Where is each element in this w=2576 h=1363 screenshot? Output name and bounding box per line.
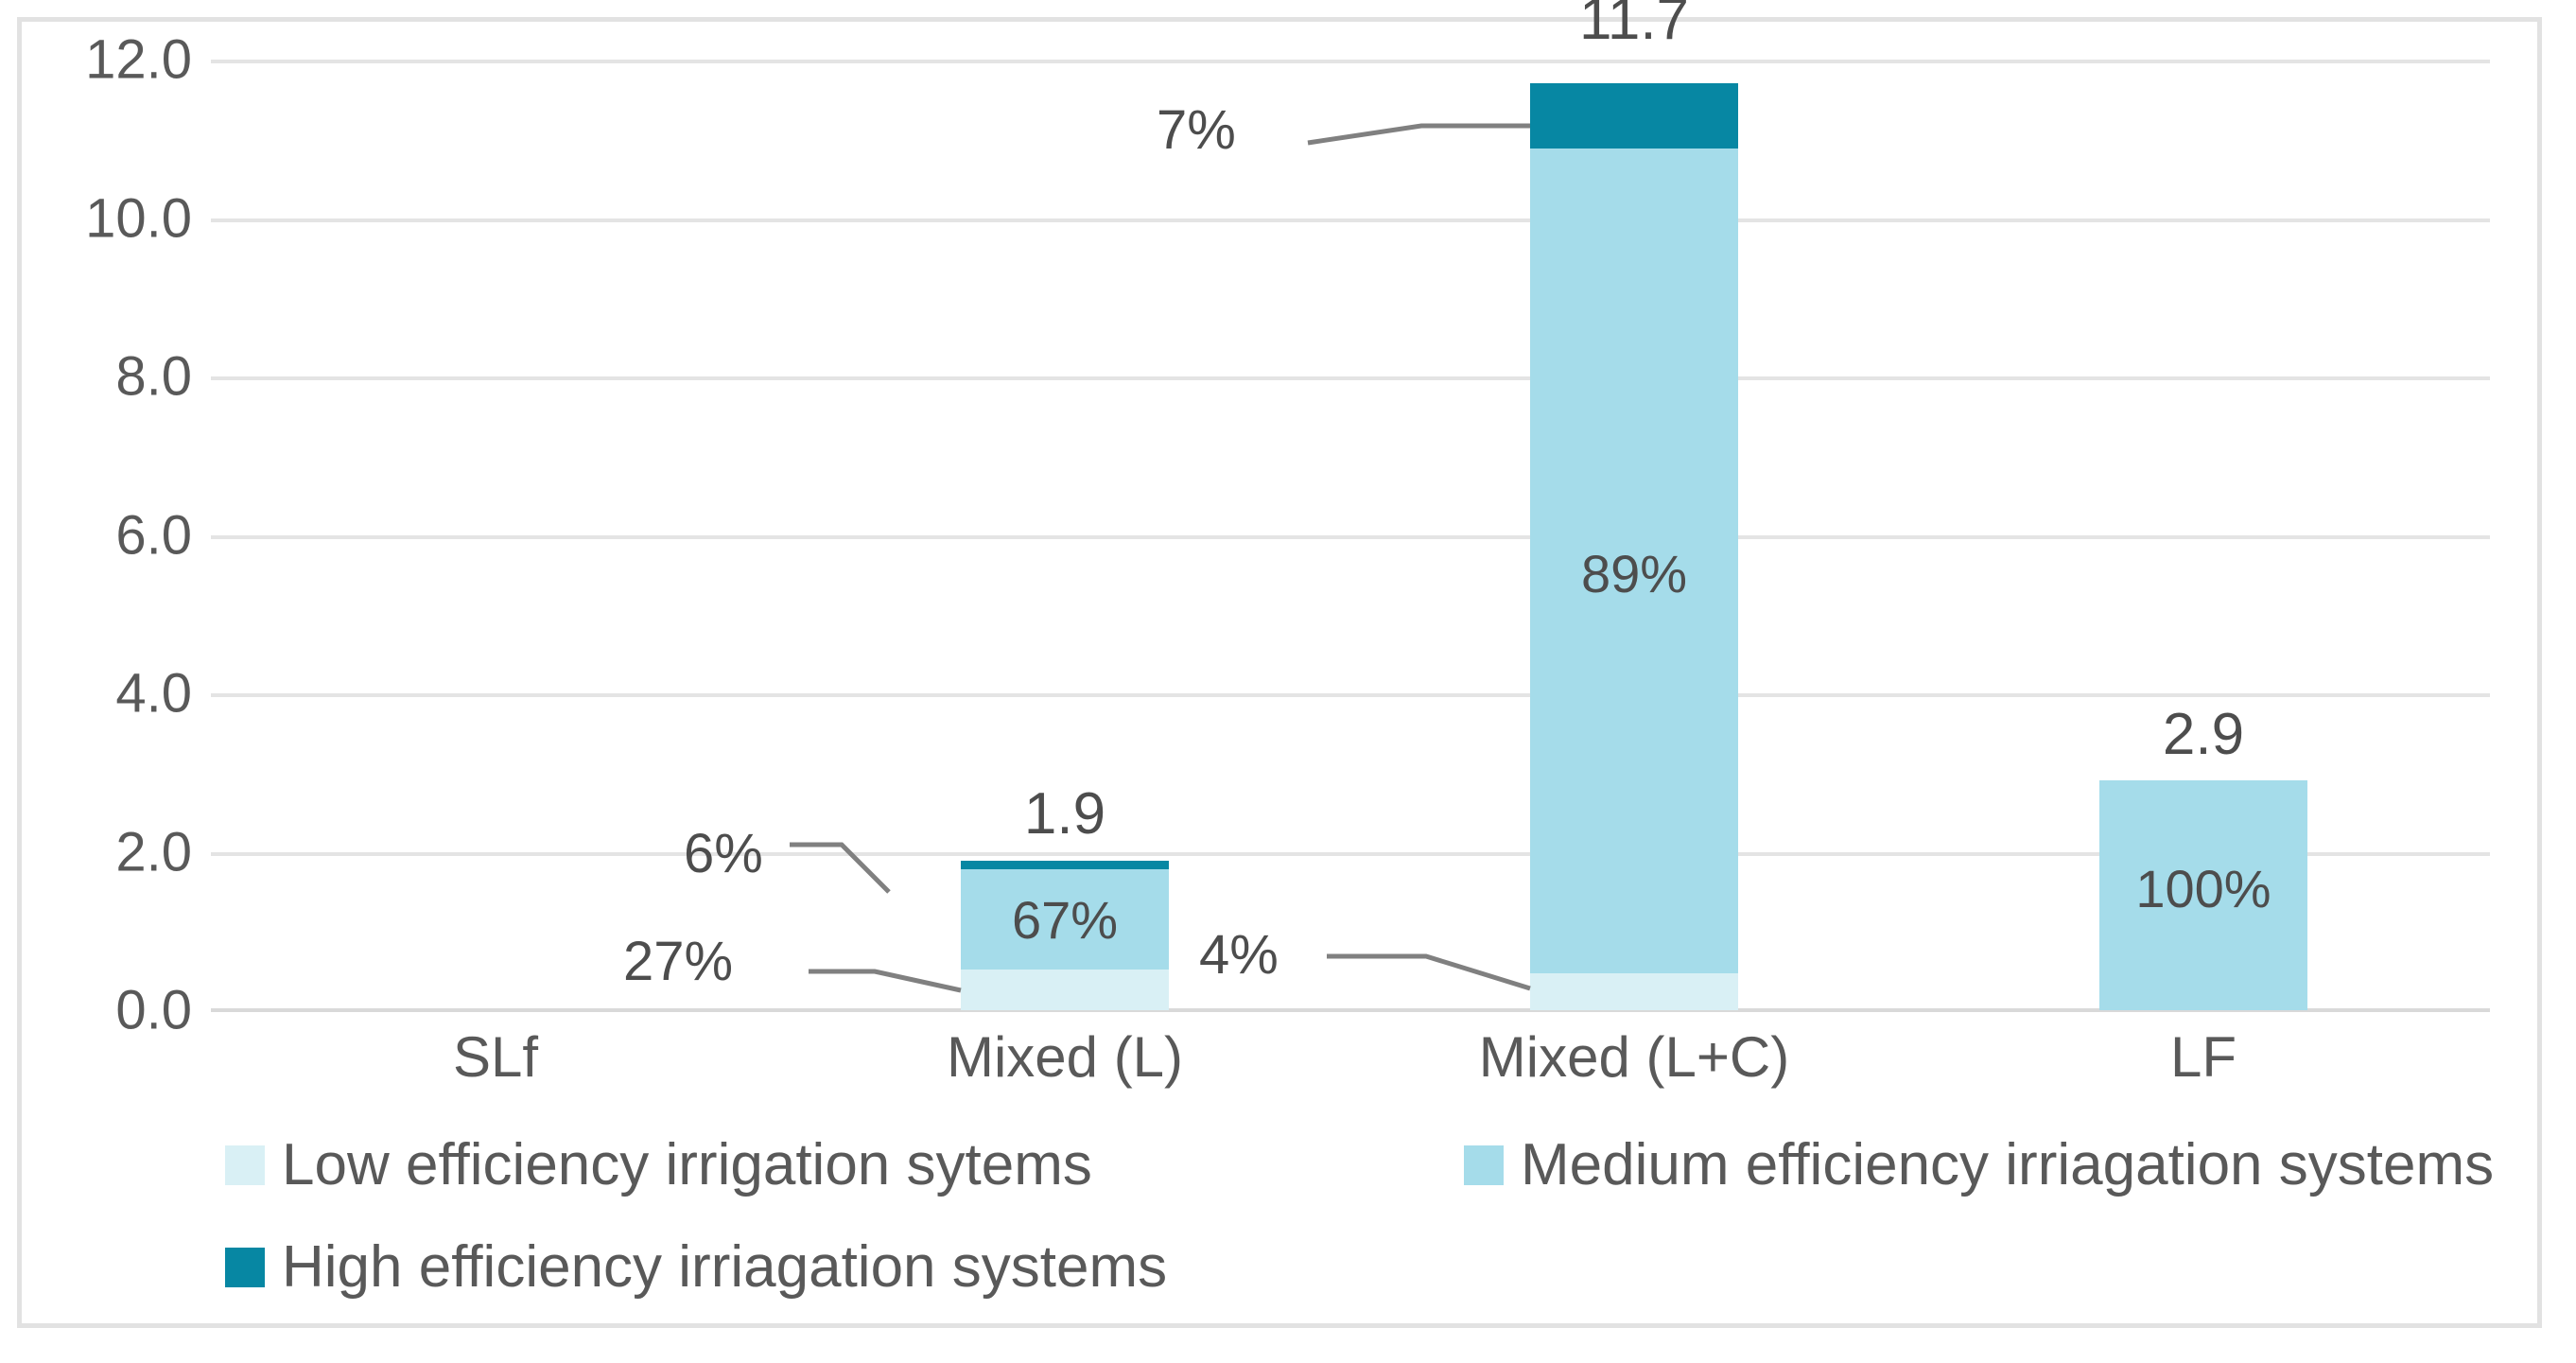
legend-label-low-efficiency: Low efficiency irrigation sytems — [282, 1136, 1092, 1195]
bar-stack-mixed-lc[interactable]: 7% 89% 4% — [1530, 83, 1738, 1010]
bar-total-label-lf: 2.9 — [2163, 701, 2244, 768]
callout-high-mixed-l: 6% — [684, 822, 763, 885]
legend-label-high-efficiency: High efficiency irriagation systems — [282, 1238, 1167, 1297]
legend-swatch-medium-efficiency-icon — [1464, 1145, 1504, 1185]
legend-row-2: High efficiency irriagation systems — [225, 1216, 2495, 1319]
bar-stack-mixed-l[interactable]: 6% 67% 27% — [961, 861, 1169, 1010]
bar-segment-low-mixed-lc[interactable]: 4% — [1530, 973, 1738, 1010]
callout-low-mixed-l: 27% — [623, 930, 733, 993]
y-tick-6: 6.0 — [41, 503, 192, 567]
gridline-10 — [211, 218, 2490, 222]
y-tick-4: 4.0 — [41, 662, 192, 725]
plot-area: 1.9 6% 67% 27% 6% 27% — [211, 60, 2490, 1010]
chart-frame: 12.0 10.0 8.0 6.0 4.0 2.0 0.0 1.9 6% — [17, 17, 2542, 1328]
x-tick-slf: SLf — [453, 1024, 538, 1090]
y-tick-0: 0.0 — [41, 979, 192, 1042]
bar-segment-high-mixed-l[interactable]: 6% — [961, 861, 1169, 869]
bar-segment-medium-mixed-l[interactable]: 67% — [961, 869, 1169, 970]
legend-item-medium-efficiency[interactable]: Medium efficiency irriagation systems — [1464, 1136, 2494, 1195]
bar-segment-label-medium-mixed-lc: 89% — [1581, 543, 1687, 604]
gridline-8 — [211, 376, 2490, 380]
bar-segment-label-medium-mixed-l: 67% — [1012, 889, 1118, 951]
y-tick-12: 12.0 — [41, 28, 192, 92]
bar-segment-high-mixed-lc[interactable]: 7% — [1530, 83, 1738, 149]
leader-line-low-mixed-l — [809, 956, 979, 1013]
leader-line-low-mixed-lc — [1327, 939, 1544, 1015]
bar-segment-medium-lf[interactable]: 100% — [2099, 780, 2307, 1010]
bar-segment-label-medium-lf: 100% — [2135, 858, 2271, 919]
legend: Low efficiency irrigation sytems Medium … — [225, 1114, 2495, 1319]
legend-swatch-high-efficiency-icon — [225, 1248, 265, 1287]
bar-total-label-mixed-lc: 11.7 — [1579, 0, 1689, 53]
gridline-12 — [211, 60, 2490, 63]
legend-label-medium-efficiency: Medium efficiency irriagation systems — [1521, 1136, 2494, 1195]
bar-segment-medium-mixed-lc[interactable]: 89% — [1530, 149, 1738, 973]
legend-item-low-efficiency[interactable]: Low efficiency irrigation sytems — [225, 1136, 1464, 1195]
callout-high-mixed-lc: 7% — [1157, 98, 1236, 162]
legend-item-high-efficiency[interactable]: High efficiency irriagation systems — [225, 1238, 1167, 1297]
x-tick-mixed-l: Mixed (L) — [947, 1024, 1183, 1090]
y-tick-10: 10.0 — [41, 186, 192, 250]
y-axis: 12.0 10.0 8.0 6.0 4.0 2.0 0.0 — [31, 60, 192, 1010]
x-axis: SLf Mixed (L) Mixed (L+C) LF — [211, 1024, 2490, 1110]
x-tick-mixed-lc: Mixed (L+C) — [1479, 1024, 1789, 1090]
bar-stack-lf[interactable]: 100% — [2099, 780, 2307, 1010]
legend-row-1: Low efficiency irrigation sytems Medium … — [225, 1114, 2495, 1216]
bar-segment-low-mixed-l[interactable]: 27% — [961, 970, 1169, 1010]
leader-line-high-mixed-l — [790, 835, 979, 939]
gridline-6 — [211, 535, 2490, 539]
callout-low-mixed-lc: 4% — [1199, 923, 1279, 987]
y-tick-8: 8.0 — [41, 345, 192, 409]
bar-total-label-mixed-l: 1.9 — [1024, 780, 1105, 848]
gridline-4 — [211, 693, 2490, 697]
leader-line-high-mixed-lc — [1308, 114, 1544, 171]
x-tick-lf: LF — [2170, 1024, 2237, 1090]
y-tick-2: 2.0 — [41, 820, 192, 883]
legend-swatch-low-efficiency-icon — [225, 1145, 265, 1185]
